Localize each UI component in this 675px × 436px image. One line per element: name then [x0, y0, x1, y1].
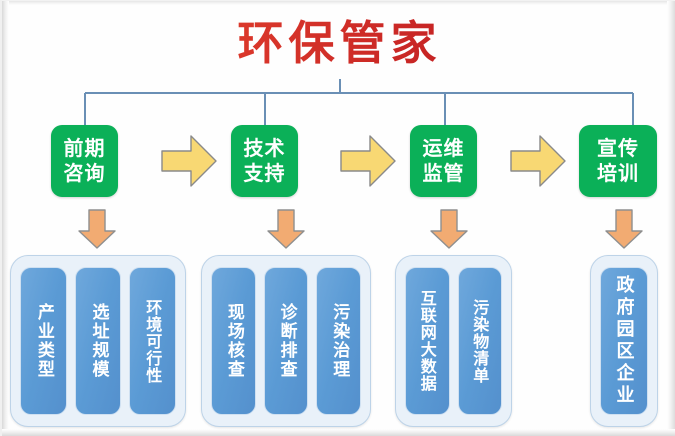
detail-pill[interactable]: 污染物清单 [458, 267, 503, 415]
stage-box-operation-supervision[interactable]: 运维 监管 [410, 125, 477, 197]
detail-pill[interactable]: 产业类型 [20, 267, 67, 415]
stage-box-technical-support[interactable]: 技术 支持 [231, 125, 298, 197]
detail-group-publicity-training: 政府园区企业 [590, 255, 658, 427]
canvas-edge-bottom [2, 429, 675, 436]
detail-pill[interactable]: 诊断排查 [264, 267, 309, 415]
stage-label-line2: 监管 [423, 161, 465, 186]
stage-label-line1: 技术 [244, 136, 286, 161]
detail-pill[interactable]: 选址规模 [75, 267, 122, 415]
detail-pill[interactable]: 环境可行性 [129, 267, 176, 415]
drilldown-arrow-down-icon [266, 207, 306, 251]
stage-box-preliminary-consulting[interactable]: 前期 咨询 [51, 125, 118, 197]
drilldown-arrow-down-icon [429, 207, 469, 251]
drilldown-arrow-down-icon [77, 207, 117, 251]
detail-group-operation-supervision: 互联网大数据 污染物清单 [395, 255, 512, 427]
diagram-title: 环保管家 [2, 15, 675, 71]
stage-label-line2: 培训 [597, 161, 639, 186]
flow-arrow-right-icon [337, 130, 399, 192]
detail-pill[interactable]: 现场核查 [211, 267, 256, 415]
detail-pill[interactable]: 污染治理 [316, 267, 361, 415]
stage-label-line2: 咨询 [64, 161, 106, 186]
flow-arrow-right-icon [158, 130, 220, 192]
connector-bus [2, 79, 675, 127]
stage-label-line1: 前期 [64, 136, 106, 161]
detail-pill[interactable]: 互联网大数据 [405, 267, 450, 415]
flow-arrow-right-icon [507, 130, 569, 192]
canvas-edge-top [2, 1, 675, 6]
diagram-canvas: 环保管家 前期 咨询 技术 支持 运维 监管 宣传 培训 [0, 0, 675, 436]
stage-label-line1: 宣传 [597, 136, 639, 161]
detail-pill[interactable]: 政府园区企业 [600, 267, 648, 415]
stage-box-publicity-training[interactable]: 宣传 培训 [579, 125, 657, 197]
detail-group-technical-support: 现场核查 诊断排查 污染治理 [201, 255, 371, 427]
stage-label-line2: 支持 [244, 161, 286, 186]
detail-group-preliminary-consulting: 产业类型 选址规模 环境可行性 [10, 255, 186, 427]
drilldown-arrow-down-icon [604, 207, 644, 251]
stage-label-line1: 运维 [423, 136, 465, 161]
